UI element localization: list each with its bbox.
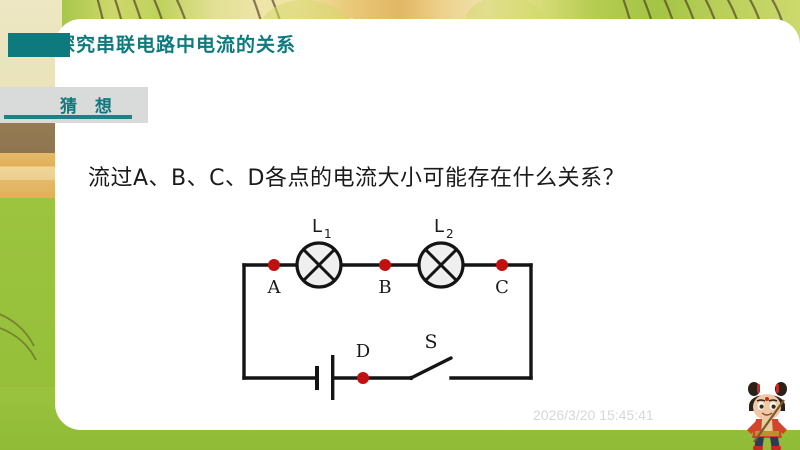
node-c-label: C bbox=[495, 277, 509, 298]
node-d-label: D bbox=[356, 341, 370, 362]
circuit-diagram: S L 1 L 2 A B C D bbox=[215, 200, 575, 400]
section-label: 猜 想 bbox=[60, 92, 118, 117]
switch-icon bbox=[409, 358, 451, 380]
lamp-2-subscript: 2 bbox=[446, 227, 454, 241]
node-b-label: B bbox=[378, 277, 391, 298]
circuit-node-icon bbox=[268, 259, 280, 271]
lamp-icon bbox=[419, 243, 463, 287]
circuit-node-icon bbox=[379, 259, 391, 271]
question-text: 流过A、B、C、D各点的电流大小可能存在什么关系？ bbox=[88, 160, 728, 192]
timestamp-watermark: 2026/3/20 15:45:41 bbox=[533, 407, 654, 423]
slide-stage: 探究串联电路中电流的关系 猜 想 流过A、B、C、D各点的电流大小可能存在什么关… bbox=[0, 0, 800, 450]
circuit-node-icon bbox=[357, 372, 369, 384]
page-title: 探究串联电路中电流的关系 bbox=[56, 30, 296, 57]
switch-label: S bbox=[424, 331, 437, 353]
mascot-character-icon bbox=[736, 380, 798, 450]
lamp-1-subscript: 1 bbox=[324, 227, 332, 241]
battery-icon bbox=[315, 355, 334, 400]
lamp-1-label: L bbox=[312, 216, 322, 237]
node-a-label: A bbox=[267, 277, 282, 298]
lamp-2-label: L bbox=[434, 216, 444, 237]
lamp-icon bbox=[297, 243, 341, 287]
circuit-node-icon bbox=[496, 259, 508, 271]
